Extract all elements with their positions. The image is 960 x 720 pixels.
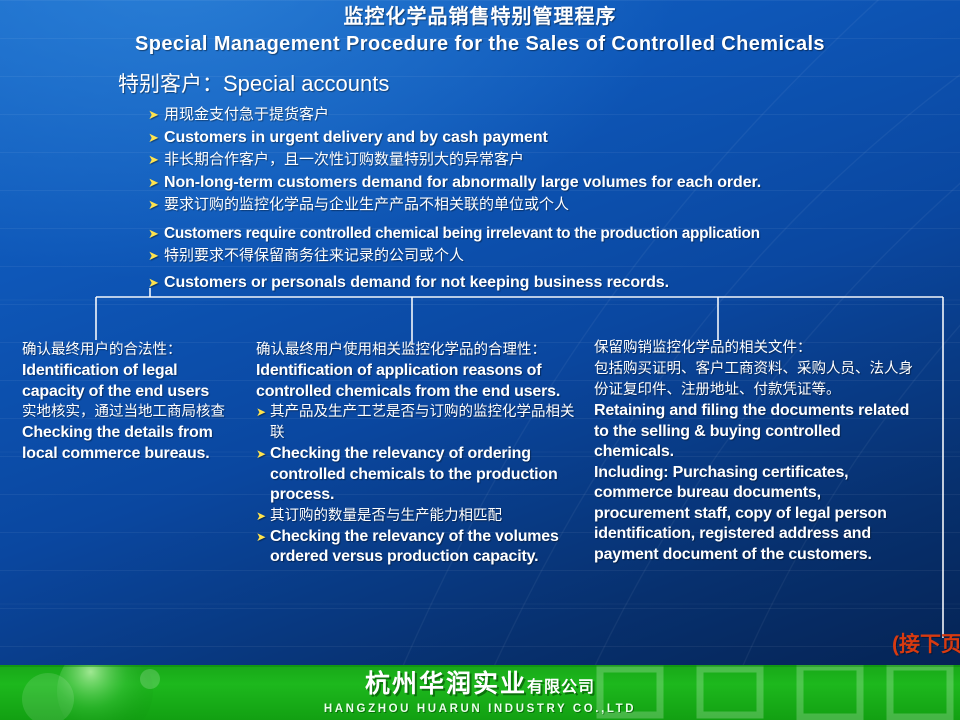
bullet-text: Customers in urgent delivery and by cash…	[164, 129, 548, 146]
continued-next-page-note: (接下页	[892, 628, 960, 658]
chevron-right-icon: ➤	[148, 104, 159, 126]
chevron-right-icon: ➤	[148, 271, 159, 294]
column-line-text: Checking the relevancy of the volumes or…	[270, 528, 559, 566]
column-line: 包括购买证明、客户工商资料、采购人员、法人身份证复印件、注册地址、付款凭证等。	[594, 359, 914, 401]
chevron-right-icon: ➤	[148, 194, 159, 216]
bullet-text: 特别要求不得保留商务往来记录的公司或个人	[164, 247, 464, 264]
bullet-item: ➤Customers in urgent delivery and by cas…	[148, 126, 960, 149]
bullet-text: Customers require controlled chemical be…	[164, 225, 760, 242]
column-identification-application-reasons: 确认最终用户使用相关监控化学品的合理性： Identification of a…	[256, 340, 586, 568]
column-identification-legal-capacity: 确认最终用户的合法性： Identification of legal capa…	[22, 340, 237, 464]
footer-text-block: 杭州华润实业有限公司 HANGZHOU HUARUN INDUSTRY CO.,…	[0, 665, 960, 720]
column-line: Identification of application reasons of…	[256, 361, 586, 402]
company-name-suffix: 有限公司	[527, 679, 595, 696]
chevron-right-icon: ➤	[256, 402, 266, 423]
bullet-text: Non-long-term customers demand for abnor…	[164, 174, 761, 191]
bullet-text: 用现金支付急于提货客户	[164, 106, 329, 123]
column-line-text: Checking the relevancy of ordering contr…	[270, 445, 558, 503]
company-name-main: 杭州华润实业	[365, 670, 527, 698]
column-line-text: 其订购的数量是否与生产能力相匹配	[270, 508, 502, 524]
chevron-right-icon: ➤	[256, 527, 266, 548]
chevron-right-icon: ➤	[148, 126, 159, 149]
column-line: ➤Checking the relevancy of ordering cont…	[256, 444, 586, 506]
chevron-right-icon: ➤	[148, 222, 159, 245]
chevron-right-icon: ➤	[148, 149, 159, 171]
page-title-chinese: 监控化学品销售特别管理程序	[0, 4, 960, 30]
bullet-text: 非长期合作客户，且一次性订购数量特别大的异常客户	[164, 151, 524, 168]
column-line: Including: Purchasing certificates, comm…	[594, 463, 914, 566]
chevron-right-icon: ➤	[256, 506, 266, 527]
bullet-text: 要求订购的监控化学品与企业生产产品不相关联的单位或个人	[164, 196, 569, 213]
bullet-item: ➤用现金支付急于提货客户	[148, 104, 960, 126]
column-line: 确认最终用户的合法性：	[22, 340, 237, 361]
bullet-item: ➤Non-long-term customers demand for abno…	[148, 171, 960, 194]
bullet-item: ➤非长期合作客户，且一次性订购数量特别大的异常客户	[148, 149, 960, 171]
column-line: Retaining and filing the documents relat…	[594, 401, 914, 463]
chevron-right-icon: ➤	[256, 444, 266, 465]
page-title-english: Special Management Procedure for the Sal…	[0, 30, 960, 58]
column-line: 确认最终用户使用相关监控化学品的合理性：	[256, 340, 586, 361]
subheading: 特别客户：Special accounts	[118, 70, 389, 99]
slide-canvas: 监控化学品销售特别管理程序 Special Management Procedu…	[0, 0, 960, 720]
bullet-item: ➤特别要求不得保留商务往来记录的公司或个人	[148, 245, 960, 267]
column-line: 实地核实，通过当地工商局核查	[22, 402, 237, 423]
column-line: ➤Checking the relevancy of the volumes o…	[256, 527, 586, 568]
bullet-item: ➤Customers require controlled chemical b…	[148, 222, 960, 245]
column-line: Checking the details from local commerce…	[22, 423, 237, 464]
bullet-item: ➤Customers or personals demand for not k…	[148, 271, 960, 294]
column-line: Identification of legal capacity of the …	[22, 361, 237, 402]
company-logo-banner: 杭州华润实业有限公司 HANGZHOU HUARUN INDUSTRY CO.,…	[0, 665, 960, 720]
column-retaining-filing-documents: 保留购销监控化学品的相关文件： 包括购买证明、客户工商资料、采购人员、法人身份证…	[594, 338, 914, 565]
column-line-text: 其产品及生产工艺是否与订购的监控化学品相关联	[270, 404, 575, 441]
chevron-right-icon: ➤	[148, 245, 159, 267]
bullet-text: Customers or personals demand for not ke…	[164, 274, 669, 291]
subheading-english: Special accounts	[223, 71, 389, 96]
company-name-chinese: 杭州华润实业有限公司	[365, 670, 595, 702]
special-accounts-bullet-list: ➤用现金支付急于提货客户 ➤Customers in urgent delive…	[148, 104, 960, 294]
column-line: 保留购销监控化学品的相关文件：	[594, 338, 914, 359]
company-name-english: HANGZHOU HUARUN INDUSTRY CO.,LTD	[324, 702, 636, 716]
column-line: ➤其订购的数量是否与生产能力相匹配	[256, 506, 586, 527]
title-block: 监控化学品销售特别管理程序 Special Management Procedu…	[0, 4, 960, 58]
bullet-item: ➤要求订购的监控化学品与企业生产产品不相关联的单位或个人	[148, 194, 960, 216]
subheading-chinese: 特别客户：	[118, 73, 223, 96]
chevron-right-icon: ➤	[148, 171, 159, 194]
column-line: ➤其产品及生产工艺是否与订购的监控化学品相关联	[256, 402, 586, 444]
